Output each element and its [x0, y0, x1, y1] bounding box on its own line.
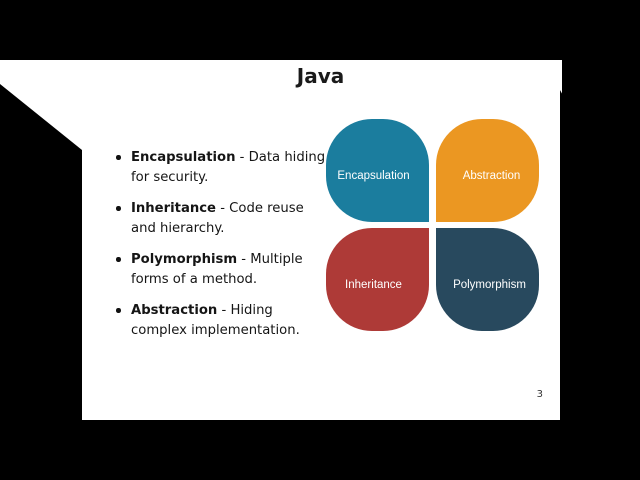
bullet-term: Abstraction — [131, 303, 217, 318]
bullet-dash: - — [216, 201, 229, 216]
bullet-list: Encapsulation - Data hiding for security… — [113, 148, 327, 353]
petal-abstraction: Abstraction — [436, 119, 539, 222]
current-slide: Java Encapsulation - Data hiding for sec… — [79, 60, 562, 420]
petal-label: Polymorphism — [449, 279, 530, 292]
list-item: Abstraction - Hiding complex implementat… — [131, 301, 327, 341]
bullet-term: Polymorphism — [131, 252, 237, 267]
oop-pillars-petal-diagram: Encapsulation Abstraction Inheritance Po… — [326, 119, 539, 331]
bullet-dash: - — [237, 252, 250, 267]
video-frame: Run A Java Encapsulation - Data hiding f… — [0, 0, 640, 480]
bullet-term: Inheritance — [131, 201, 216, 216]
transition-mask-right — [560, 60, 640, 420]
slide-viewport: Run A Java Encapsulation - Data hiding f… — [0, 60, 640, 420]
list-item: Encapsulation - Data hiding for security… — [131, 148, 327, 188]
bullet-dash: - — [235, 150, 248, 165]
petal-inheritance: Inheritance — [326, 228, 429, 331]
petal-polymorphism: Polymorphism — [436, 228, 539, 331]
slide-title: Java — [79, 64, 562, 88]
bullet-dash: - — [217, 303, 230, 318]
petal-encapsulation: Encapsulation — [326, 119, 429, 222]
petal-label: Inheritance — [341, 279, 406, 292]
list-item: Polymorphism - Multiple forms of a metho… — [131, 250, 327, 290]
petal-label: Encapsulation — [333, 170, 413, 183]
list-item: Inheritance - Code reuse and hierarchy. — [131, 199, 327, 239]
bullet-term: Encapsulation — [131, 150, 235, 165]
page-number: 3 — [537, 389, 543, 400]
petal-label: Abstraction — [459, 170, 525, 183]
